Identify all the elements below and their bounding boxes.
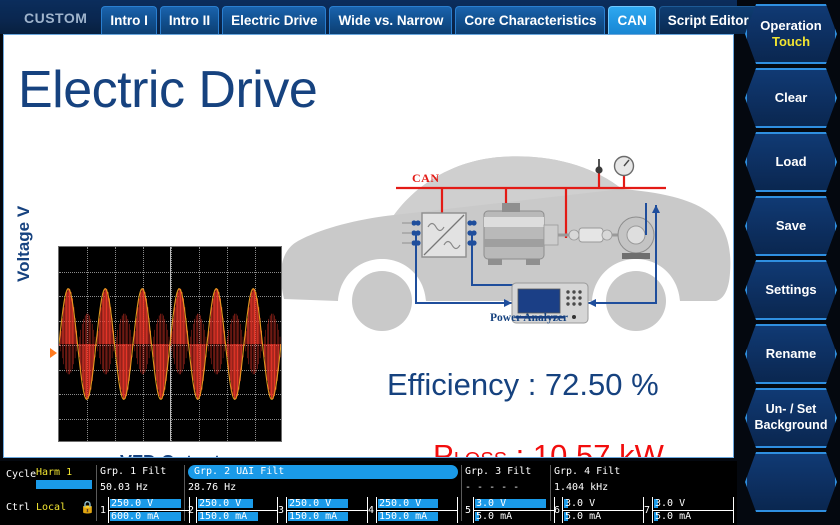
side-button-label: Clear bbox=[775, 90, 808, 106]
side-button-clear[interactable]: Clear bbox=[745, 68, 837, 128]
channel-scale-7[interactable]: 3.0 V5.0 mA bbox=[652, 497, 734, 523]
tab-core-characteristics[interactable]: Core Characteristics bbox=[455, 6, 605, 34]
side-button-sublabel: Touch bbox=[772, 34, 810, 50]
group-frequency-1: 50.03 Hz bbox=[100, 482, 148, 493]
channel-number-1: 1 bbox=[100, 505, 106, 516]
function-button-column: OperationTouchClearLoadSaveSettingsRenam… bbox=[737, 0, 840, 525]
side-button-settings[interactable]: Settings bbox=[745, 260, 837, 320]
tab-intro-ii[interactable]: Intro II bbox=[160, 6, 219, 34]
channel-voltage-label: 250.0 V bbox=[289, 498, 331, 509]
channel-current-label: 150.0 mA bbox=[199, 511, 247, 522]
motor-icon bbox=[484, 203, 558, 265]
waveform-panel: Voltage V bbox=[20, 240, 285, 458]
power-analyzer-label: Power Analyzer bbox=[484, 312, 574, 324]
power-loss-readout: PLOSS : 10.57 kW bbox=[433, 438, 664, 458]
gauge-icon bbox=[615, 157, 634, 176]
side-button-label: Settings bbox=[765, 282, 816, 298]
side-button-label: Rename bbox=[766, 346, 817, 362]
channel-scale-1[interactable]: 250.0 V600.0 mA bbox=[108, 497, 190, 523]
channel-number-6: 6 bbox=[554, 505, 560, 516]
side-button-label: Operation bbox=[760, 18, 821, 34]
channel-current-label: 600.0 mA bbox=[111, 511, 159, 522]
group-frequency-2: 28.76 Hz bbox=[188, 482, 236, 493]
channel-scale-3[interactable]: 250.0 V150.0 mA bbox=[286, 497, 368, 523]
channel-scale-6[interactable]: 3.0 V5.0 mA bbox=[562, 497, 644, 523]
channel-current-label: 5.0 mA bbox=[655, 511, 691, 522]
channel-current-label: 150.0 mA bbox=[379, 511, 427, 522]
group-title-3[interactable]: Grp. 3 Filt bbox=[465, 466, 531, 477]
scope-caption: VFD Output bbox=[58, 452, 282, 458]
cycle-label: Cycle bbox=[6, 469, 36, 480]
channel-voltage-label: 3.0 V bbox=[476, 498, 506, 509]
tab-bar: CUSTOM Intro IIntro IIElectric DriveWide… bbox=[0, 0, 737, 34]
content-page: Electric Drive bbox=[3, 34, 734, 458]
dynamometer-icon bbox=[618, 217, 654, 259]
channel-voltage-label: 250.0 V bbox=[199, 498, 241, 509]
channel-current-label: 150.0 mA bbox=[289, 511, 337, 522]
scope-trigger-marker bbox=[50, 348, 57, 358]
temperature-sensor-icon bbox=[595, 159, 602, 174]
device-screen: CUSTOM Intro IIntro IIElectric DriveWide… bbox=[0, 0, 840, 525]
group-title-2[interactable]: Grp. 2 UΔI Filt bbox=[188, 465, 458, 479]
group-title-1[interactable]: Grp. 1 Filt bbox=[100, 466, 166, 477]
channel-number-4: 4 bbox=[368, 505, 374, 516]
shaft-coupling-icon bbox=[558, 228, 622, 242]
channel-number-5: 5 bbox=[465, 505, 471, 516]
tab-can[interactable]: CAN bbox=[608, 6, 655, 34]
tab-electric-drive[interactable]: Electric Drive bbox=[222, 6, 326, 34]
group-frequency-4: 1.404 kHz bbox=[554, 482, 608, 493]
tab-wide-vs-narrow[interactable]: Wide vs. Narrow bbox=[329, 6, 452, 34]
side-button-empty[interactable] bbox=[745, 452, 837, 512]
scope-y-axis-label: Voltage V bbox=[14, 162, 34, 282]
side-button-label: Load bbox=[775, 154, 806, 170]
group-title-4[interactable]: Grp. 4 Filt bbox=[554, 466, 620, 477]
side-button-save[interactable]: Save bbox=[745, 196, 837, 256]
group-frequency-3: - - - - - bbox=[465, 482, 519, 493]
side-button-rename[interactable]: Rename bbox=[745, 324, 837, 384]
efficiency-readout: Efficiency : 72.50 % bbox=[387, 367, 659, 403]
channel-number-7: 7 bbox=[644, 505, 650, 516]
channel-scale-4[interactable]: 250.0 V150.0 mA bbox=[376, 497, 458, 523]
page-title: Electric Drive bbox=[18, 60, 317, 120]
can-bus-label: CAN bbox=[412, 171, 440, 186]
side-button-load[interactable]: Load bbox=[745, 132, 837, 192]
side-button-operation[interactable]: OperationTouch bbox=[745, 4, 837, 64]
ploss-value: : 10.57 kW bbox=[507, 438, 664, 458]
waveform-display[interactable] bbox=[58, 246, 282, 442]
inverter-icon bbox=[422, 213, 466, 257]
side-button-un-set[interactable]: Un- / SetBackground bbox=[745, 388, 837, 448]
tab-list: Intro IIntro IIElectric DriveWide vs. Na… bbox=[101, 6, 760, 34]
ctrl-value[interactable]: Local bbox=[36, 502, 66, 513]
channel-voltage-label: 3.0 V bbox=[655, 498, 685, 509]
side-button-label: Un- / Set bbox=[766, 402, 817, 418]
lock-icon[interactable]: 🔒 bbox=[80, 500, 95, 514]
vfd-waveform-trace bbox=[59, 247, 281, 441]
cycle-value[interactable]: Harm 1 bbox=[36, 467, 72, 478]
custom-label: CUSTOM bbox=[4, 10, 101, 34]
cycle-bar bbox=[36, 480, 92, 489]
tab-intro-i[interactable]: Intro I bbox=[101, 6, 157, 34]
ploss-prefix: P bbox=[433, 438, 454, 458]
channel-voltage-label: 3.0 V bbox=[565, 498, 595, 509]
channel-current-label: 5.0 mA bbox=[565, 511, 601, 522]
channel-scale-5[interactable]: 3.0 V5.0 mA bbox=[473, 497, 555, 523]
ctrl-label: Ctrl bbox=[6, 502, 30, 513]
channel-voltage-label: 250.0 V bbox=[111, 498, 153, 509]
channel-voltage-label: 250.0 V bbox=[379, 498, 421, 509]
channel-number-3: 3 bbox=[278, 505, 284, 516]
side-button-label: Save bbox=[776, 218, 806, 234]
channel-number-2: 2 bbox=[188, 505, 194, 516]
side-button-sublabel: Background bbox=[755, 418, 828, 434]
ploss-subscript: LOSS bbox=[454, 449, 507, 458]
channel-scale-2[interactable]: 250.0 V150.0 mA bbox=[196, 497, 278, 523]
channel-current-label: 5.0 mA bbox=[476, 511, 512, 522]
status-bar: Cycle Harm 1 Ctrl Local 🔒 Grp. 1 Filt50.… bbox=[0, 461, 737, 525]
